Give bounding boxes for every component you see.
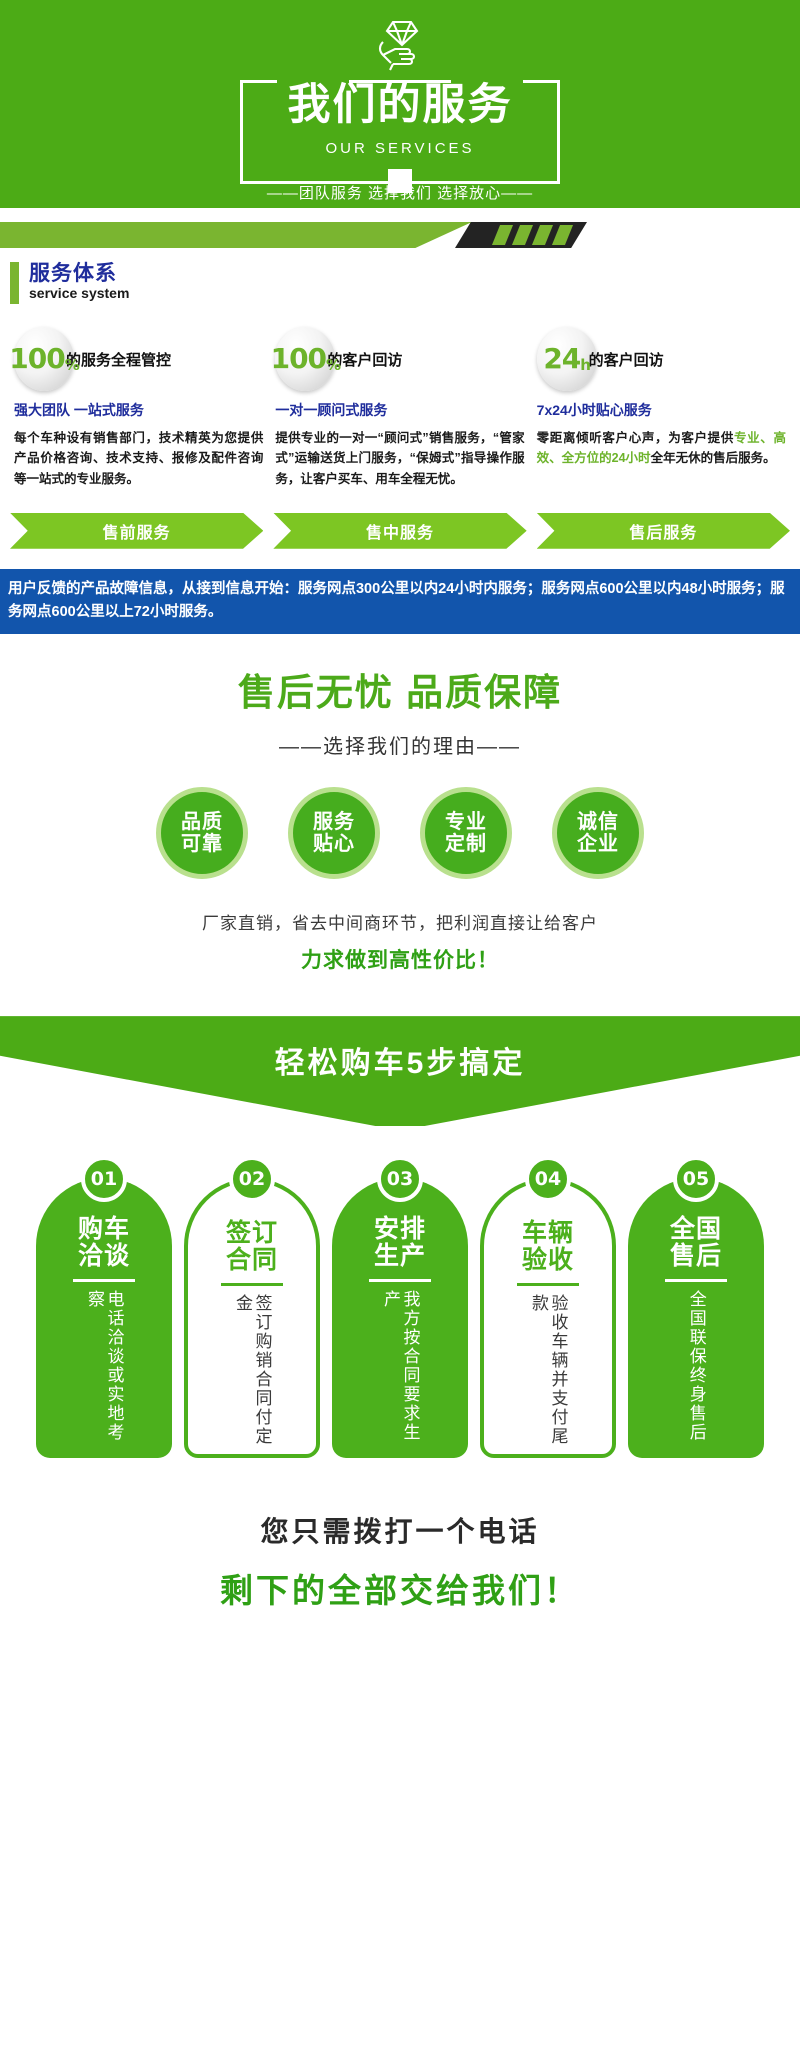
service-stage-arrows: 售前服务 售中服务 售后服务 [0, 489, 800, 549]
feature-subtitle: 一对一顾问式服务 [275, 400, 524, 420]
section-title-cn: 服务体系 [29, 262, 129, 285]
reason-line1: 专业 [445, 811, 487, 833]
feature-column: 100% 的服务全程管控 强大团队 一站式服务 每个车种设有销售部门，技术精英为… [8, 322, 269, 489]
step-number-badge: 01 [81, 1156, 127, 1202]
badge-caption: 的客户回访 [589, 349, 664, 370]
step-title-line2: 合同 [226, 1247, 278, 1274]
feature-header: 24h 的客户回访 [537, 322, 786, 396]
feature-subtitle: 7x24小时贴心服务 [537, 400, 786, 420]
step-title: 车辆 验收 [522, 1220, 574, 1274]
hero-tagline: ——团队服务 选择我们 选择放心—— [0, 182, 800, 203]
feature-body: 零距离倾听客户心声，为客户提供专业、高效、全方位的24小时全年无休的售后服务。 [537, 428, 786, 469]
step-divider [369, 1279, 431, 1282]
step-title: 购车 洽谈 [78, 1216, 130, 1270]
feature-header: 100% 的客户回访 [275, 322, 524, 396]
footer-line-2: 剩下的全部交给我们！ [0, 1564, 800, 1612]
reason-line1: 品质 [181, 811, 223, 833]
step-title-line2: 售后 [670, 1243, 722, 1270]
reason-line1: 诚信 [577, 811, 619, 833]
step-pill: 购车 洽谈 电话洽谈或实地考察 [36, 1178, 172, 1458]
diamond-hand-icon [373, 18, 427, 76]
reason-line1: 服务 [313, 811, 355, 833]
step-pill: 安排 生产 我方按合同要求生产 [332, 1178, 468, 1458]
hero-section: 我们的服务 OUR SERVICES ——团队服务 选择我们 选择放心—— [0, 0, 800, 208]
step-description: 验收车辆并支付尾款 [528, 1294, 567, 1454]
step-item[interactable]: 01 购车 洽谈 电话洽谈或实地考察 [36, 1156, 172, 1458]
promo-line-1: 厂家直销，省去中间商环节，把利润直接让给客户 [0, 909, 800, 934]
step-item[interactable]: 04 车辆 验收 验收车辆并支付尾款 [480, 1156, 616, 1458]
reason-circle-service: 服务 贴心 [288, 787, 380, 879]
step-title-line1: 车辆 [522, 1220, 574, 1247]
step-description: 全国联保终身售后 [686, 1290, 706, 1442]
step-title-line1: 购车 [78, 1216, 130, 1243]
promo-line-2: 力求做到高性价比！ [0, 944, 800, 974]
step-item[interactable]: 05 全国 售后 全国联保终身售后 [628, 1156, 764, 1458]
feature-body: 每个车种设有销售部门，技术精英为您提供产品价格咨询、技术支持、报修及配件咨询等一… [14, 428, 263, 489]
reason-circle-integrity: 诚信 企业 [552, 787, 644, 879]
step-description: 我方按合同要求生产 [380, 1290, 419, 1458]
section-header: 服务体系 service system [0, 258, 800, 304]
arrow-midsale[interactable]: 售中服务 [273, 513, 526, 549]
hero-subtitle: OUR SERVICES [0, 140, 800, 157]
step-pill: 签订 合同 签订购销合同付定金 [184, 1178, 320, 1458]
arrow-aftersale[interactable]: 售后服务 [537, 513, 790, 549]
step-item[interactable]: 02 签订 合同 签订购销合同付定金 [184, 1156, 320, 1458]
metal-badge-icon: 100% [14, 327, 74, 391]
decor-green-shape [0, 222, 472, 248]
step-divider [73, 1279, 135, 1282]
footer-line-1: 您只需拨打一个电话 [0, 1510, 800, 1550]
step-pill: 车辆 验收 验收车辆并支付尾款 [480, 1178, 616, 1458]
step-title-line1: 签订 [226, 1220, 278, 1247]
reason-line2: 可靠 [181, 833, 223, 855]
hero-title: 我们的服务 [0, 84, 800, 127]
step-item[interactable]: 03 安排 生产 我方按合同要求生产 [332, 1156, 468, 1458]
step-title-line1: 全国 [670, 1216, 722, 1243]
feature-body-part: 全年无休的售后服务。 [651, 451, 776, 465]
steps-banner: 轻松购车5步搞定 [0, 1016, 800, 1126]
steps-banner-title: 轻松购车5步搞定 [0, 1038, 800, 1082]
step-title-line2: 生产 [374, 1243, 426, 1270]
step-description: 电话洽谈或实地考察 [84, 1290, 123, 1458]
decor-bar [0, 208, 800, 258]
service-landing-page: 我们的服务 OUR SERVICES ——团队服务 选择我们 选择放心—— 服务… [0, 0, 800, 1654]
step-number-badge: 03 [377, 1156, 423, 1202]
step-title: 全国 售后 [670, 1216, 722, 1270]
reason-line2: 定制 [445, 833, 487, 855]
feature-header: 100% 的服务全程管控 [14, 322, 263, 396]
step-pill: 全国 售后 全国联保终身售后 [628, 1178, 764, 1458]
step-divider [665, 1279, 727, 1282]
step-description: 签订购销合同付定金 [232, 1294, 271, 1454]
step-divider [517, 1283, 579, 1286]
step-title-line2: 验收 [522, 1247, 574, 1274]
section-accent-bar [10, 262, 19, 304]
metal-badge-icon: 24h [537, 327, 597, 391]
step-number-badge: 04 [525, 1156, 571, 1202]
step-number-badge: 02 [229, 1156, 275, 1202]
feature-body: 提供专业的一对一“顾问式”销售服务，“管家式”运输送货上门服务，“保姆式”指导操… [275, 428, 524, 489]
step-title-line1: 安排 [374, 1216, 426, 1243]
reason-circle-quality: 品质 可靠 [156, 787, 248, 879]
reason-line2: 企业 [577, 833, 619, 855]
badge-caption: 的服务全程管控 [66, 349, 171, 370]
feature-columns: 100% 的服务全程管控 强大团队 一站式服务 每个车种设有销售部门，技术精英为… [0, 304, 800, 489]
step-title-line2: 洽谈 [78, 1243, 130, 1270]
badge-number: 24h [543, 345, 590, 373]
reasons-section: 售后无忧 品质保障 ——选择我们的理由—— 品质 可靠 服务 贴心 专业 定制 … [0, 634, 800, 974]
feature-body-part: 零距离倾听客户心声，为客户提供 [537, 431, 734, 445]
section-title-en: service system [29, 285, 129, 302]
step-title: 安排 生产 [374, 1216, 426, 1270]
arrow-presale[interactable]: 售前服务 [10, 513, 263, 549]
reason-circle-custom: 专业 定制 [420, 787, 512, 879]
reason-circles: 品质 可靠 服务 贴心 专业 定制 诚信 企业 [0, 787, 800, 879]
feature-column: 100% 的客户回访 一对一顾问式服务 提供专业的一对一“顾问式”销售服务，“管… [269, 322, 530, 489]
purchase-steps: 01 购车 洽谈 电话洽谈或实地考察 02 签订 合同 签订购销合同付定金 [0, 1126, 800, 1458]
reason-line2: 贴心 [313, 833, 355, 855]
step-number-badge: 05 [673, 1156, 719, 1202]
step-divider [221, 1283, 283, 1286]
reasons-heading: 售后无忧 品质保障 [0, 662, 800, 716]
feature-column: 24h 的客户回访 7x24小时贴心服务 零距离倾听客户心声，为客户提供专业、高… [531, 322, 792, 489]
footer-cta: 您只需拨打一个电话 剩下的全部交给我们！ [0, 1458, 800, 1654]
reasons-subheading: ——选择我们的理由—— [0, 730, 800, 759]
metal-badge-icon: 100% [275, 327, 335, 391]
step-title: 签订 合同 [226, 1220, 278, 1274]
feature-subtitle: 强大团队 一站式服务 [14, 400, 263, 420]
response-time-band: 用户反馈的产品故障信息，从接到信息开始：服务网点300公里以内24小时内服务；服… [0, 569, 800, 634]
